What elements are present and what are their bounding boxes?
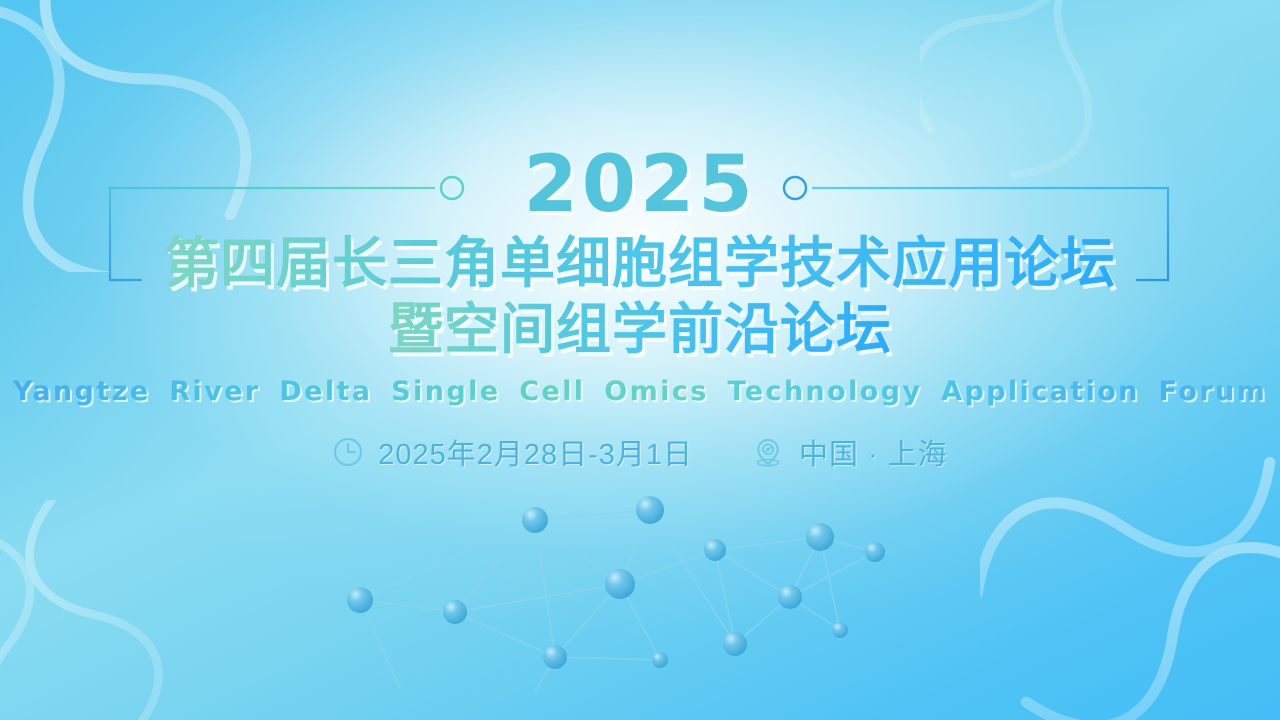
location-pin-icon bbox=[751, 435, 785, 469]
clock-icon bbox=[332, 436, 364, 468]
event-date: 2025年2月28日-3月1日 bbox=[332, 431, 693, 473]
event-location-text: 中国 · 上海 bbox=[799, 431, 948, 473]
english-subtitle: Yangtze River Delta Single Cell Omics Te… bbox=[13, 376, 1267, 407]
event-meta-row: 2025年2月28日-3月1日 中国 · 上海 bbox=[332, 431, 948, 473]
banner-content: 2025 第四届长三角单细胞组学技术应用论坛 暨空间组学前沿论坛 Yangtze… bbox=[0, 0, 1280, 720]
page-title-line-2: 暨空间组学前沿论坛 bbox=[388, 300, 892, 359]
page-title-line-1: 第四届长三角单细胞组学技术应用论坛 bbox=[164, 234, 1116, 293]
event-date-text: 2025年2月28日-3月1日 bbox=[378, 431, 693, 473]
event-location: 中国 · 上海 bbox=[751, 431, 948, 473]
conference-banner: 2025 第四届长三角单细胞组学技术应用论坛 暨空间组学前沿论坛 Yangtze… bbox=[0, 0, 1280, 720]
year-heading: 2025 bbox=[523, 146, 756, 224]
